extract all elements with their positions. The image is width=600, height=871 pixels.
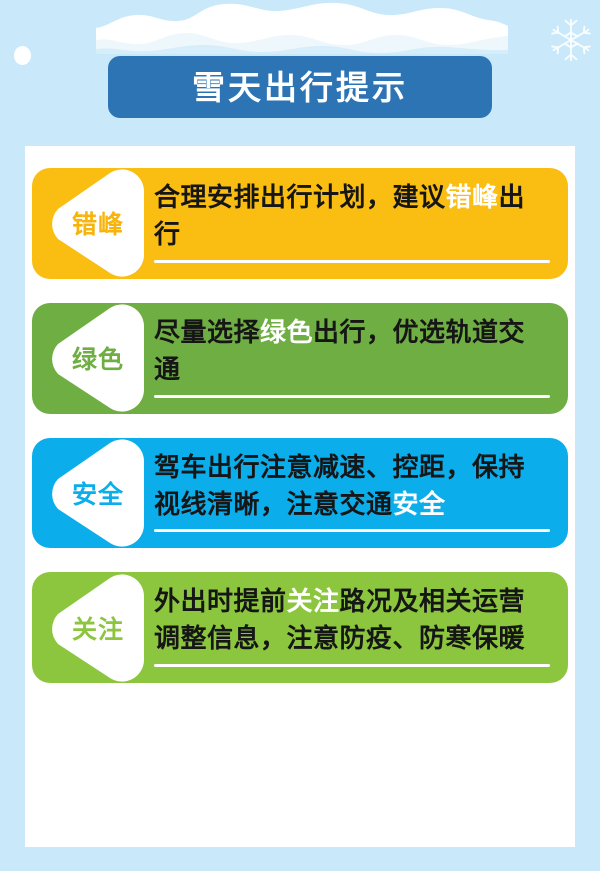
badge-label: 错峰 — [40, 169, 140, 277]
tip-keyword: 错峰 — [446, 183, 499, 213]
tips-list: 错峰 合理安排出行计划，建议错峰出行 绿色 尽量选择绿色出行，优选轨道交通 — [32, 168, 568, 683]
tip-text-part: 尽量选择 — [154, 318, 260, 348]
page-title: 雪天出行提示 — [192, 71, 408, 104]
tip-body: 尽量选择绿色出行，优选轨道交通 — [154, 315, 550, 398]
tip-body: 外出时提前关注路况及相关运营调整信息，注意防疫、防寒保暖 — [154, 584, 550, 667]
snow-drift-decoration — [96, 0, 508, 54]
badge-label: 绿色 — [40, 304, 140, 412]
tip-card-lvse[interactable]: 绿色 尽量选择绿色出行，优选轨道交通 — [32, 303, 568, 414]
tip-underline — [154, 260, 550, 263]
tip-card-guanzhu[interactable]: 关注 外出时提前关注路况及相关运营调整信息，注意防疫、防寒保暖 — [32, 572, 568, 683]
tip-text: 驾车出行注意减速、控距，保持视线清晰，注意交通安全 — [154, 450, 550, 524]
badge-anquan: 安全 — [40, 439, 152, 547]
tip-body: 驾车出行注意减速、控距，保持视线清晰，注意交通安全 — [154, 450, 550, 533]
tip-keyword: 关注 — [287, 587, 340, 617]
tip-text-part: 驾车出行注意减速、控距，保持视线清晰，注意交通 — [154, 453, 525, 520]
badge-cuofeng: 错峰 — [40, 169, 152, 277]
tip-body: 合理安排出行计划，建议错峰出行 — [154, 180, 550, 263]
tip-keyword: 绿色 — [260, 318, 313, 348]
tip-keyword: 安全 — [393, 490, 446, 520]
tip-card-anquan[interactable]: 安全 驾车出行注意减速、控距，保持视线清晰，注意交通安全 — [32, 438, 568, 549]
badge-lvse: 绿色 — [40, 304, 152, 412]
tip-underline — [154, 664, 550, 667]
tip-text: 外出时提前关注路况及相关运营调整信息，注意防疫、防寒保暖 — [154, 584, 550, 658]
tip-underline — [154, 529, 550, 532]
tip-underline — [154, 395, 550, 398]
tip-card-cuofeng[interactable]: 错峰 合理安排出行计划，建议错峰出行 — [32, 168, 568, 279]
tip-text-part: 合理安排出行计划，建议 — [154, 183, 446, 213]
tip-text: 尽量选择绿色出行，优选轨道交通 — [154, 315, 550, 389]
title-bar: 雪天出行提示 — [108, 56, 492, 118]
tip-text: 合理安排出行计划，建议错峰出行 — [154, 180, 550, 254]
badge-label: 关注 — [40, 574, 140, 682]
badge-guanzhu: 关注 — [40, 574, 152, 682]
badge-label: 安全 — [40, 439, 140, 547]
tip-text-part: 外出时提前 — [154, 587, 287, 617]
page-header: 雪天出行提示 — [0, 0, 600, 150]
